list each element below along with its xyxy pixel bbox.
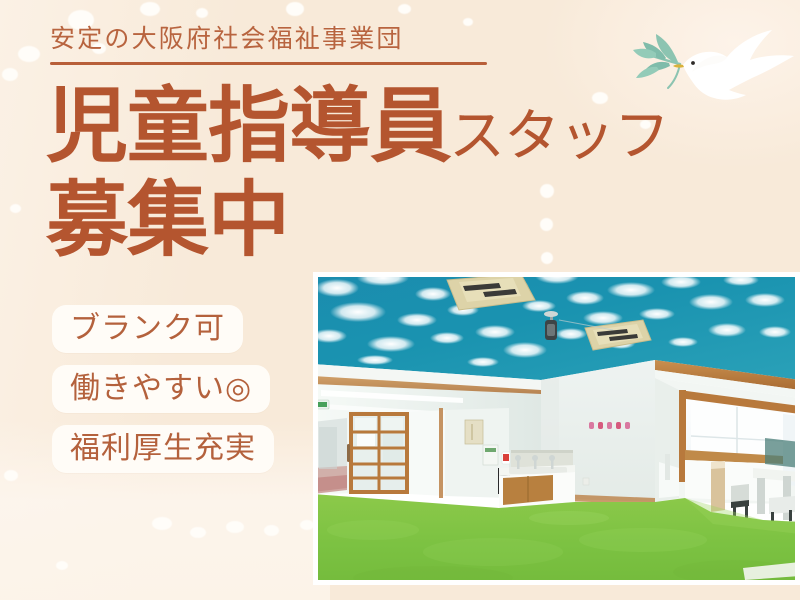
eyebrow-text: 安定の大阪府社会福祉事業団 — [50, 24, 500, 55]
dove-body — [673, 30, 794, 100]
eyebrow-block: 安定の大阪府社会福祉事業団 — [50, 24, 500, 65]
headline-row-2: 募集中 — [46, 180, 669, 262]
badge-list: ブランク可 働きやすい◎ 福利厚生充実 — [52, 305, 274, 485]
headline-main: 児童指導員 — [46, 86, 451, 168]
decorative-dot — [190, 527, 206, 538]
badge-label: 働きやすい◎ — [70, 374, 252, 404]
olive-branch-icon — [633, 34, 680, 88]
headline-row-1: 児童指導員 スタッフ — [46, 86, 669, 168]
decorative-dot — [140, 2, 160, 16]
decorative-dot — [196, 8, 208, 18]
badge-item: 福利厚生充実 — [52, 425, 274, 473]
decorative-dot — [152, 517, 172, 530]
sliding-door — [347, 412, 409, 494]
decorative-dot — [300, 520, 314, 530]
page-title: 児童指導員 スタッフ 募集中 — [46, 86, 669, 262]
decorative-dot — [18, 46, 40, 62]
decorative-dot — [10, 204, 21, 213]
decorative-dot — [2, 68, 18, 81]
eyebrow-underline — [50, 62, 487, 65]
ceiling-fixture — [544, 311, 558, 340]
facility-photo — [313, 272, 800, 585]
decorative-dot — [4, 470, 18, 481]
dove-icon — [626, 8, 798, 104]
decorative-dot — [56, 561, 68, 570]
recruitment-poster: 安定の大阪府社会福祉事業団 児童指導員 スタッフ 募集中 ブランク可 働きやすい… — [0, 0, 800, 600]
decorative-dot — [226, 521, 244, 533]
badge-label: ブランク可 — [70, 314, 225, 344]
badge-item: 働きやすい◎ — [52, 365, 270, 413]
headline-sub: スタッフ — [449, 108, 669, 168]
decorative-dot — [264, 525, 279, 536]
decorative-dot — [398, 4, 411, 14]
badge-label: 福利厚生充実 — [70, 434, 256, 464]
badge-item: ブランク可 — [52, 305, 243, 353]
decorative-dot — [286, 2, 304, 16]
